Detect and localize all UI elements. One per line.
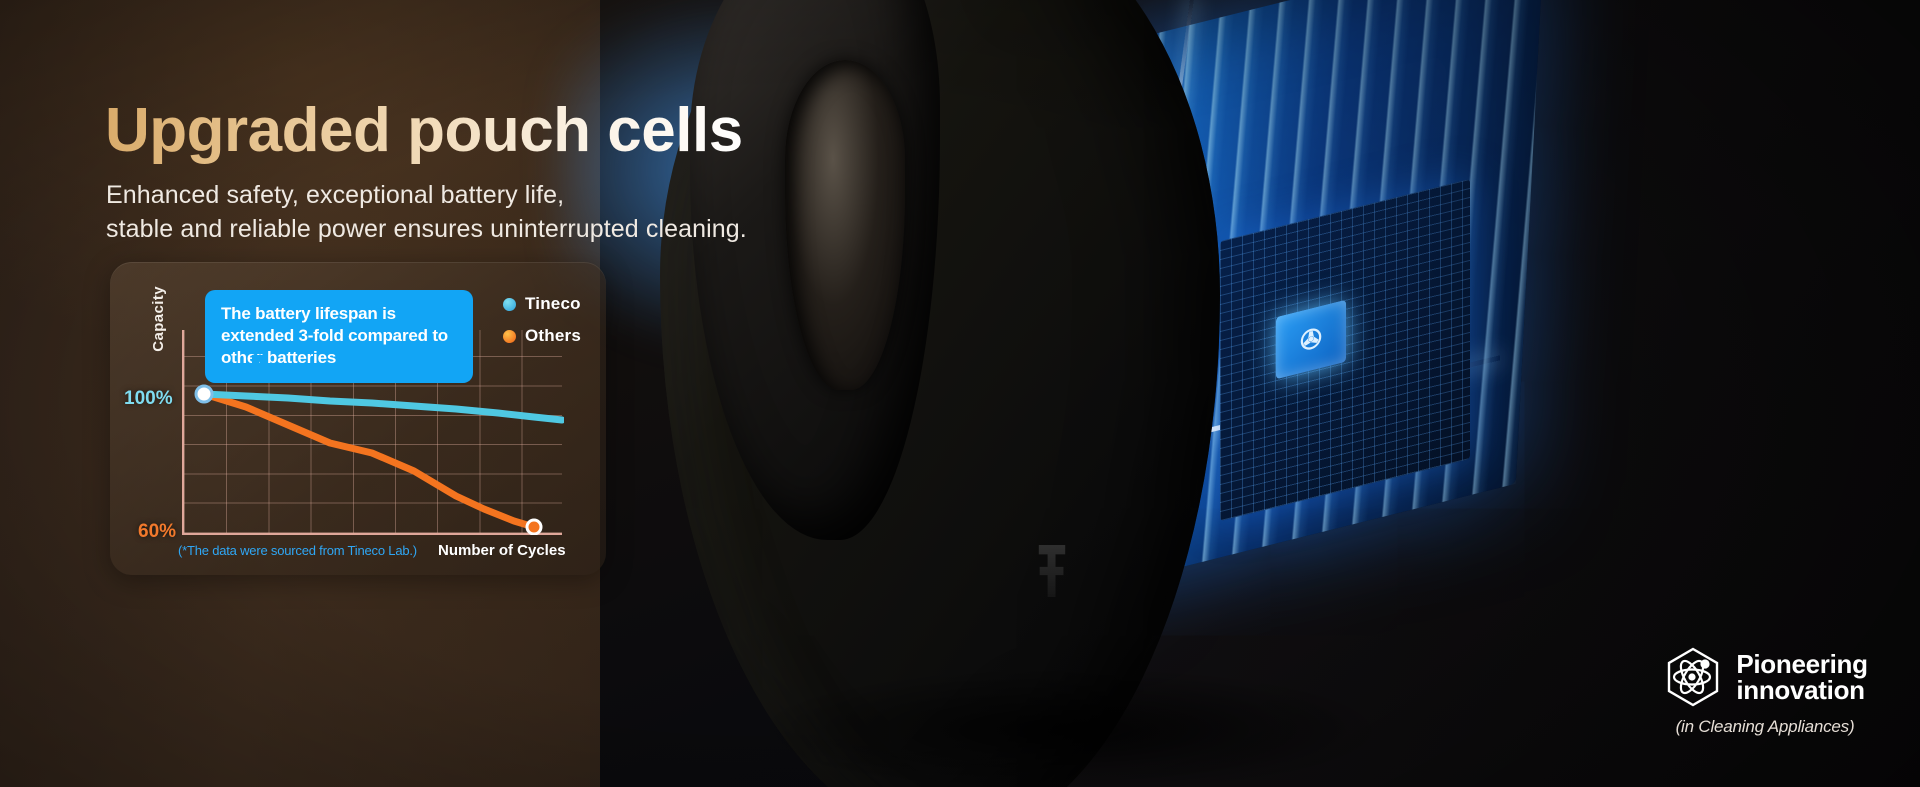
page-title: Upgraded pouch cells (105, 95, 743, 166)
chart-x-axis-title: Number of Cycles (438, 542, 566, 559)
brand-tagline: (in Cleaning Appliances) (1676, 717, 1855, 737)
brand-line-2: innovation (1736, 677, 1867, 703)
brand-lockup: Pioneering innovation (1662, 646, 1867, 708)
legend-label: Tineco (525, 294, 581, 314)
atom-hexagon-icon (1662, 646, 1724, 708)
legend-dot-icon (503, 330, 516, 343)
brand-name: Pioneering innovation (1736, 651, 1867, 703)
chart-callout-tail (252, 355, 263, 377)
legend-label: Others (525, 326, 581, 346)
brand-line-1: Pioneering (1736, 651, 1867, 677)
chart-legend: Tineco Others (503, 294, 581, 358)
chart-footnote: (*The data were sourced from Tineco Lab.… (178, 543, 417, 558)
page-subtitle: Enhanced safety, exceptional battery lif… (106, 178, 747, 246)
series-line-tineco (204, 394, 562, 420)
legend-dot-icon (503, 298, 516, 311)
chart-y-tick-bottom: 60% (138, 521, 176, 543)
brand-badge: Pioneering innovation (in Cleaning Appli… (1640, 646, 1890, 737)
legend-item-others: Others (503, 326, 581, 346)
chart-y-tick-top: 100% (124, 388, 173, 410)
chart-y-axis-title: Capacity (150, 286, 167, 352)
series-start-dot (196, 386, 212, 402)
promo-banner: ✇ Upgraded pouch cells Enhanced safety, … (0, 0, 1920, 787)
chart-callout: The battery lifespan is extended 3-fold … (205, 290, 473, 383)
legend-item-tineco: Tineco (503, 294, 581, 314)
series-end-dot-others (527, 520, 541, 534)
